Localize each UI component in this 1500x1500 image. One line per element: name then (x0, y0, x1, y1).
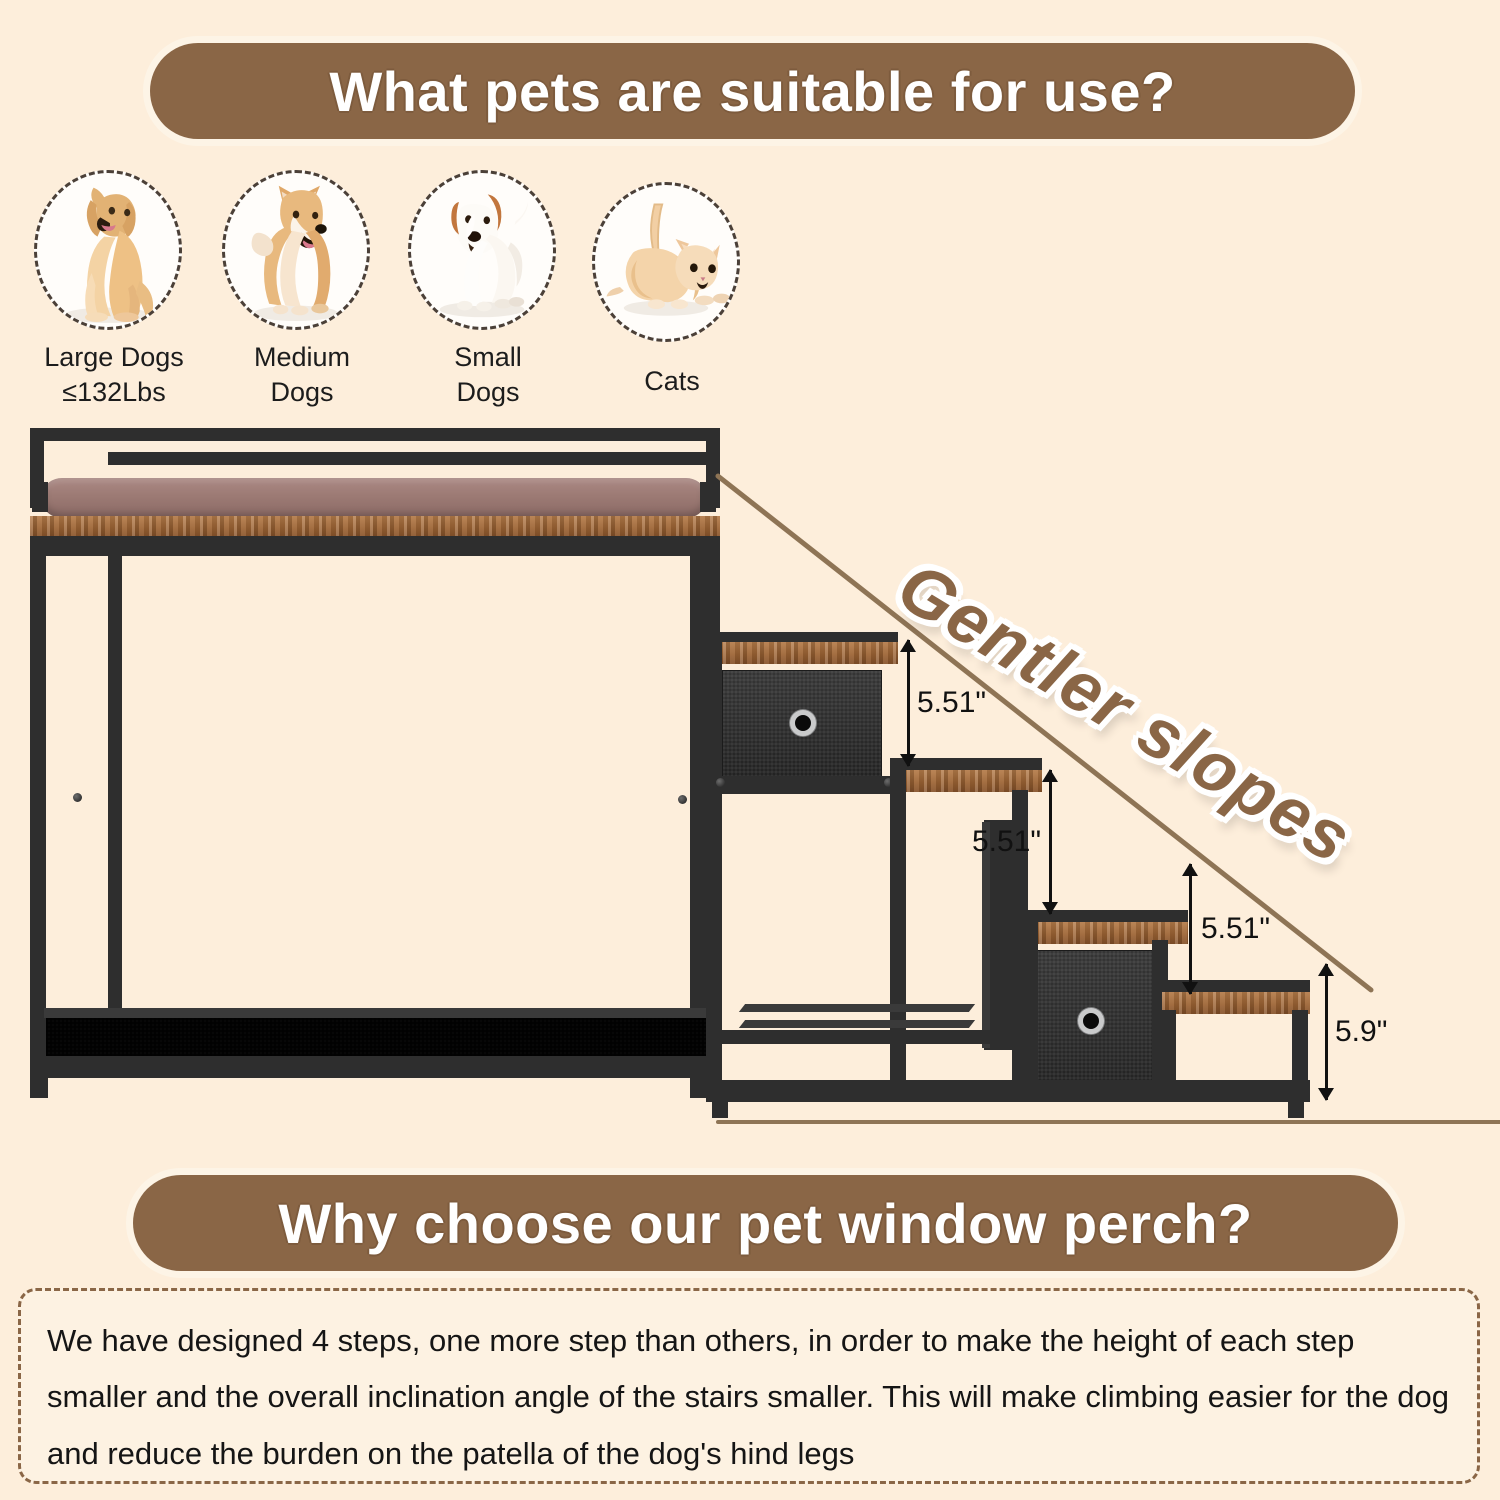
dim-arrow-down (900, 754, 916, 767)
rustic-wood-top-shelf (30, 516, 720, 538)
suitable-pets-row: Large Dogs ≤132Lbs (0, 170, 800, 420)
screw-right (678, 795, 687, 804)
dimension-step-3: 5.51" (1188, 864, 1192, 994)
stairs-base-rail (706, 1080, 1310, 1102)
perch-foot-right (690, 1076, 706, 1098)
step3-post-left (1022, 922, 1038, 1102)
pet-item-large-dogs: Large Dogs ≤132Lbs (34, 170, 194, 409)
pet-item-medium-dogs: Medium Dogs (222, 170, 382, 409)
banner-bottom-text: Why choose our pet window perch? (278, 1191, 1252, 1256)
step1-bin-frame-bottom (706, 776, 898, 794)
slope-floor-line (716, 1120, 1500, 1124)
product-illustration: Gentler slopes 5.51" 5.51" 5.51" 5.9" (0, 420, 1500, 1150)
description-text: We have designed 4 steps, one more step … (47, 1323, 1449, 1471)
stairs-foot-right (1288, 1100, 1304, 1118)
slat-shelf-frame (706, 1030, 1016, 1044)
chrome-grommet-upper (790, 710, 816, 736)
dim-line (1189, 864, 1192, 994)
dim-arrow-up (900, 639, 916, 652)
dim-line (1049, 770, 1052, 914)
perch-top-rail-front (108, 452, 720, 465)
chrome-grommet-lower (1078, 1008, 1104, 1034)
golden-retriever-photo (34, 170, 182, 330)
slat-1 (739, 1020, 975, 1028)
dim-arrow-up (1318, 963, 1334, 976)
cushion-clip-left (32, 482, 48, 512)
screw-left (73, 793, 82, 802)
heading-banner-bottom: Why choose our pet window perch? (133, 1175, 1398, 1271)
orange-kitten-photo (592, 182, 740, 342)
dim-arrow-down (1042, 902, 1058, 915)
perch-leg-back-left (108, 556, 122, 1076)
dimension-value-step-2: 5.51" (972, 825, 1041, 859)
step2-post-left (890, 770, 906, 1100)
shiba-inu-photo (222, 170, 370, 330)
cushion-clip-right (700, 482, 716, 512)
dim-arrow-down (1182, 982, 1198, 995)
pet-label-medium-dogs: Medium Dogs (222, 340, 382, 409)
jack-russell-puppy-photo (408, 170, 556, 330)
perch-top-rail-back (30, 428, 720, 441)
pet-label-small-dogs: Small Dogs (408, 340, 568, 409)
slat-2 (739, 1004, 975, 1012)
pet-label-large-dogs: Large Dogs ≤132Lbs (34, 340, 194, 409)
dim-arrow-up (1182, 863, 1198, 876)
black-mesh-shelf (46, 1016, 706, 1060)
perch-foot-left (32, 1076, 48, 1098)
step1-wood-edge (706, 642, 898, 664)
mesh-shelf-front-rail (30, 1056, 720, 1078)
dimension-value-step-3: 5.51" (1201, 912, 1270, 946)
mesh-shelf-back-rail (44, 1008, 708, 1018)
pet-item-small-dogs: Small Dogs (408, 170, 568, 409)
dim-arrow-up (1042, 769, 1058, 782)
dim-arrow-down (1318, 1088, 1334, 1101)
dim-line (907, 640, 910, 766)
step4-wood-edge (1162, 992, 1310, 1014)
padded-seat-cushion (44, 478, 704, 518)
pet-item-cats: Cats (592, 182, 752, 399)
dim-line (1325, 964, 1328, 1100)
pet-label-cats: Cats (592, 364, 752, 399)
step2-wood-edge (890, 770, 1042, 792)
description-box: We have designed 4 steps, one more step … (18, 1288, 1480, 1484)
dimension-value-step-1: 5.51" (917, 686, 986, 720)
screw-step1-left (716, 778, 725, 787)
stairs-foot-left (712, 1100, 728, 1118)
dimension-value-step-4: 5.9" (1335, 1015, 1387, 1049)
perch-seat-apron (30, 536, 720, 556)
banner-top-text: What pets are suitable for use? (329, 59, 1175, 124)
heading-banner-top: What pets are suitable for use? (150, 43, 1355, 139)
